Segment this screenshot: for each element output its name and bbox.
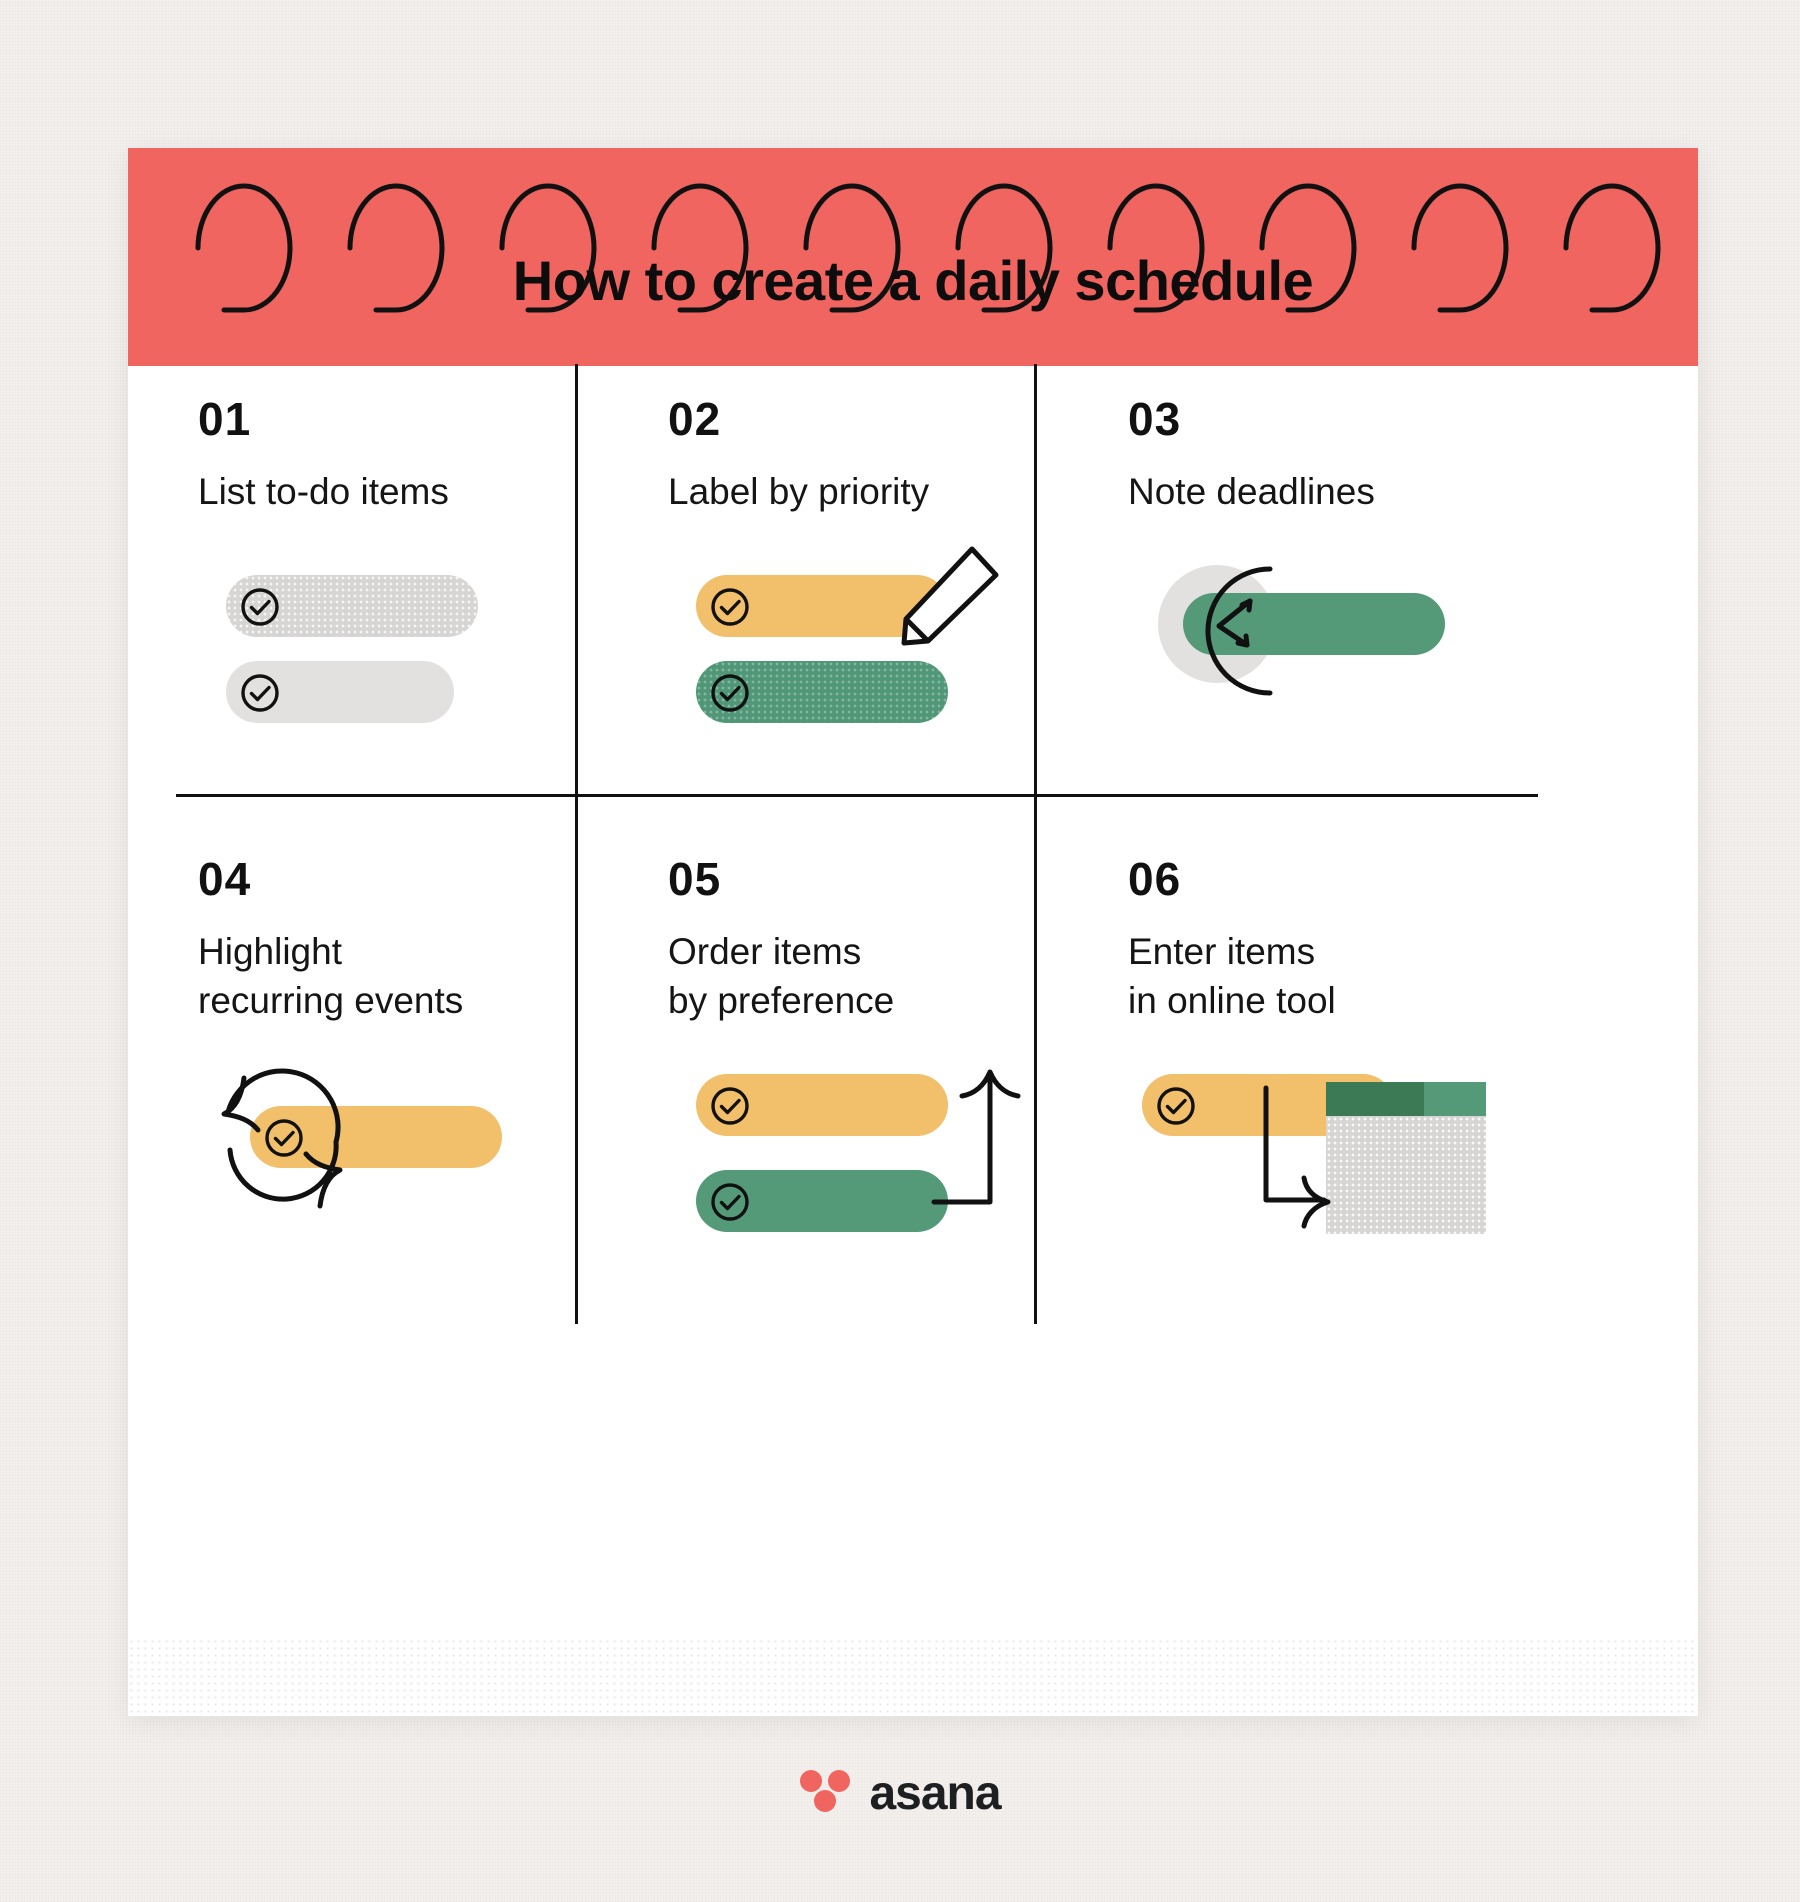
check-circle-icon [708,671,752,715]
step-card-06: 06 Enter items in online tool [1128,856,1528,1300]
step-illustration-06 [1128,1060,1528,1300]
step-number: 06 [1128,856,1528,902]
check-circle-icon [262,1116,306,1160]
step-title: Highlight recurring events [198,928,598,1026]
step-illustration-01 [198,551,558,791]
check-circle-icon [708,1084,752,1128]
clock-arc-icon [1120,545,1320,725]
divider-vertical-1 [575,364,578,796]
page-title: How to create a daily schedule [128,148,1698,366]
check-circle-icon [238,585,282,629]
step-number: 05 [668,856,1068,902]
check-circle-icon [708,1180,752,1224]
step-illustration-05 [668,1060,1068,1300]
step-card-04: 04 Highlight recurring events [198,856,598,1300]
step-card-02: 02 Label by priority [668,396,1048,791]
step-illustration-04 [198,1060,598,1300]
step-illustration-03 [1128,551,1508,791]
step-illustration-02 [668,551,1048,791]
step-title: Order items by preference [668,928,1068,1026]
asana-logo-icon [799,1770,851,1818]
check-circle-icon [708,585,752,629]
pencil-icon [880,533,1010,663]
step-card-03: 03 Note deadlines [1128,396,1508,791]
reorder-arrow-icon [914,1060,1054,1250]
step-card-01: 01 List to-do items [198,396,558,791]
steps-grid: 01 List to-do items 02 Label by priority [128,366,1698,1638]
check-circle-icon [238,671,282,715]
step-number: 04 [198,856,598,902]
brand-footer: asana [0,1766,1800,1821]
step-number: 02 [668,396,1048,442]
brand-name: asana [869,1766,1000,1821]
step-title: List to-do items [198,468,558,517]
notepad-bottom-texture [128,1638,1698,1716]
nested-arrow-icon [1238,1072,1388,1252]
step-title: Enter items in online tool [1128,928,1528,1026]
notepad-card: How to create a daily schedule 01 List t… [128,148,1698,1716]
step-number: 01 [198,396,558,442]
check-circle-icon [1154,1084,1198,1128]
step-number: 03 [1128,396,1508,442]
divider-horizontal [176,794,1538,797]
step-title: Note deadlines [1128,468,1508,517]
step-card-05: 05 Order items by preference [668,856,1068,1300]
step-title: Label by priority [668,468,1048,517]
